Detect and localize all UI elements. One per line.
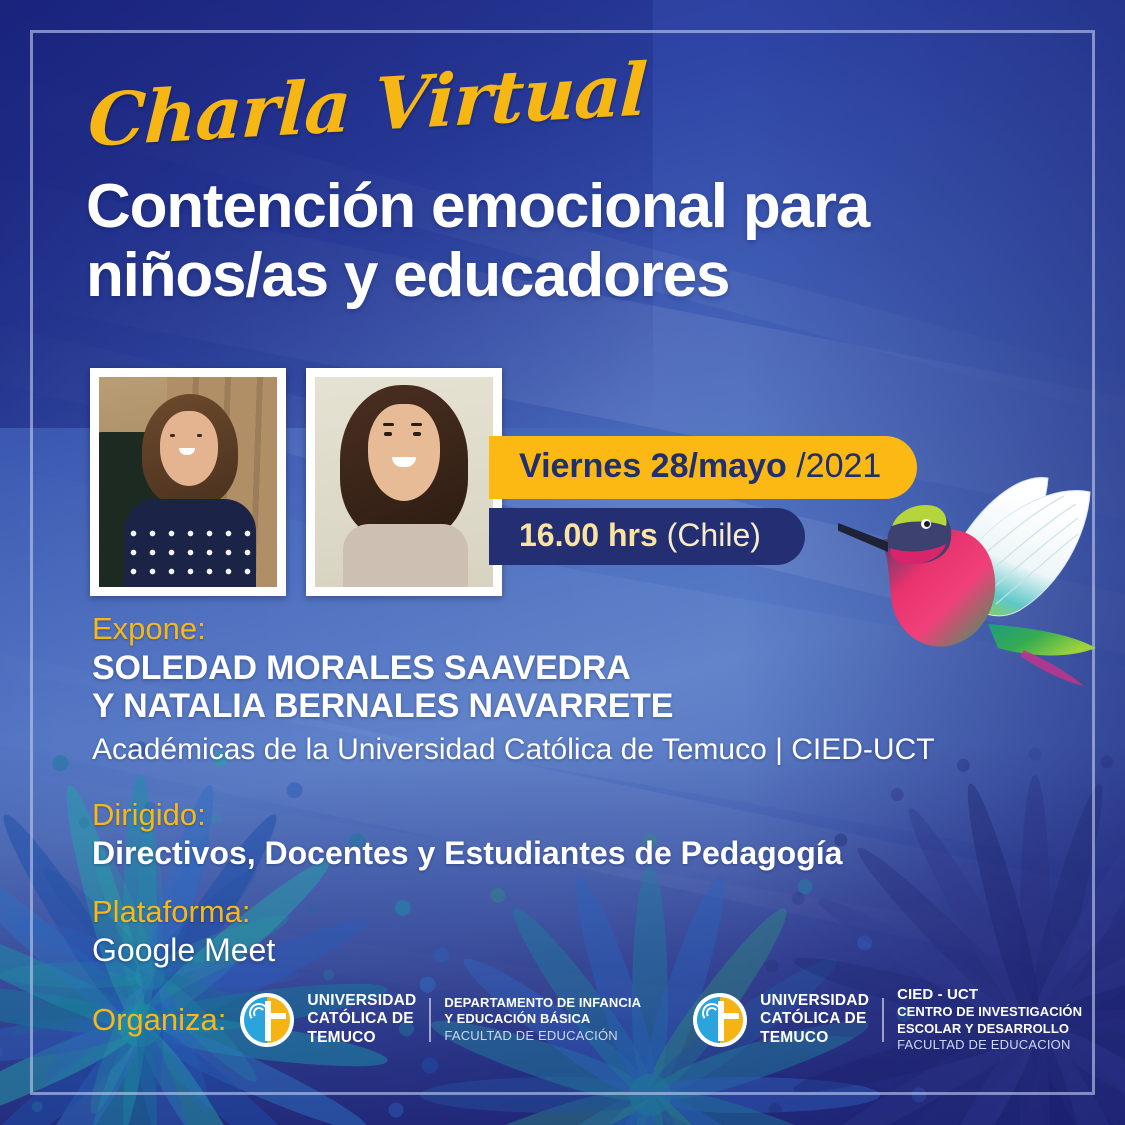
cied-line-1: CENTRO DE INVESTIGACIÓN xyxy=(897,1004,1082,1021)
expone-label: Expone: xyxy=(92,612,992,647)
dirigido-value: Directivos, Docentes y Estudiantes de Pe… xyxy=(92,835,842,872)
speaker-photo-soledad-morales xyxy=(90,368,286,596)
platform-block: Plataforma: Google Meet xyxy=(92,895,275,969)
unit-text-depto: DEPARTAMENTO DE INFANCIA Y EDUCACIÓN BÁS… xyxy=(444,995,641,1045)
uct-name-1: UNIVERSIDADCATÓLICA DETEMUCO xyxy=(307,992,416,1047)
audience-block: Dirigido: Directivos, Docentes y Estudia… xyxy=(92,798,842,872)
date-main: Viernes 28/mayo xyxy=(519,447,787,485)
organiza-row: Organiza: UNIVERSIDADCATÓLICA DETEMUCO D… xyxy=(92,985,1082,1054)
logo-group-cied: UNIVERSIDADCATÓLICA DETEMUCO CIED - UCT … xyxy=(693,985,1082,1054)
logo-group-depto: UNIVERSIDADCATÓLICA DETEMUCO DEPARTAMENT… xyxy=(240,992,641,1047)
logo-divider xyxy=(882,998,884,1042)
time-main: 16.00 hrs xyxy=(519,517,658,553)
plataforma-value: Google Meet xyxy=(92,932,275,969)
speaker-name-1: SOLEDAD MORALES SAAVEDRA xyxy=(92,649,992,688)
speaker-info-block: Expone: SOLEDAD MORALES SAAVEDRA Y NATAL… xyxy=(92,612,992,769)
cied-faculty: FACULTAD DE EDUCACION xyxy=(897,1037,1082,1054)
uct-logo-icon xyxy=(693,993,747,1047)
depto-faculty: FACULTAD DE EDUCACIÓN xyxy=(444,1028,641,1045)
plataforma-label: Plataforma: xyxy=(92,895,275,930)
kicker-charla-virtual: Charla Virtual xyxy=(86,46,648,163)
depto-line-1: DEPARTAMENTO DE INFANCIA xyxy=(444,995,641,1012)
page-title: Contención emocional para niños/as y edu… xyxy=(86,172,966,311)
title-line-1: Contención emocional para xyxy=(86,172,966,241)
cied-line-0: CIED - UCT xyxy=(897,985,1082,1004)
depto-line-2: Y EDUCACIÓN BÁSICA xyxy=(444,1011,641,1028)
organiza-label: Organiza: xyxy=(92,1002,226,1038)
uct-logo-icon xyxy=(240,993,294,1047)
speaker-names: SOLEDAD MORALES SAAVEDRA Y NATALIA BERNA… xyxy=(92,649,992,727)
speaker-photo-natalia-bernales xyxy=(306,368,502,596)
time-badge: 16.00 hrs (Chile) xyxy=(489,508,805,565)
cied-line-2: ESCOLAR Y DESARROLLO xyxy=(897,1021,1082,1038)
speaker-affiliation: Académicas de la Universidad Católica de… xyxy=(92,732,992,769)
unit-text-cied: CIED - UCT CENTRO DE INVESTIGACIÓN ESCOL… xyxy=(897,985,1082,1054)
dirigido-label: Dirigido: xyxy=(92,798,842,833)
poster-canvas: Charla Virtual Contención emocional para… xyxy=(0,0,1125,1125)
time-timezone: (Chile) xyxy=(658,517,761,553)
uct-name-2: UNIVERSIDADCATÓLICA DETEMUCO xyxy=(760,992,869,1047)
title-line-2: niños/as y educadores xyxy=(86,241,966,310)
speaker-name-2: Y NATALIA BERNALES NAVARRETE xyxy=(92,687,992,726)
speaker-photos xyxy=(90,368,502,596)
logo-divider xyxy=(429,998,431,1042)
